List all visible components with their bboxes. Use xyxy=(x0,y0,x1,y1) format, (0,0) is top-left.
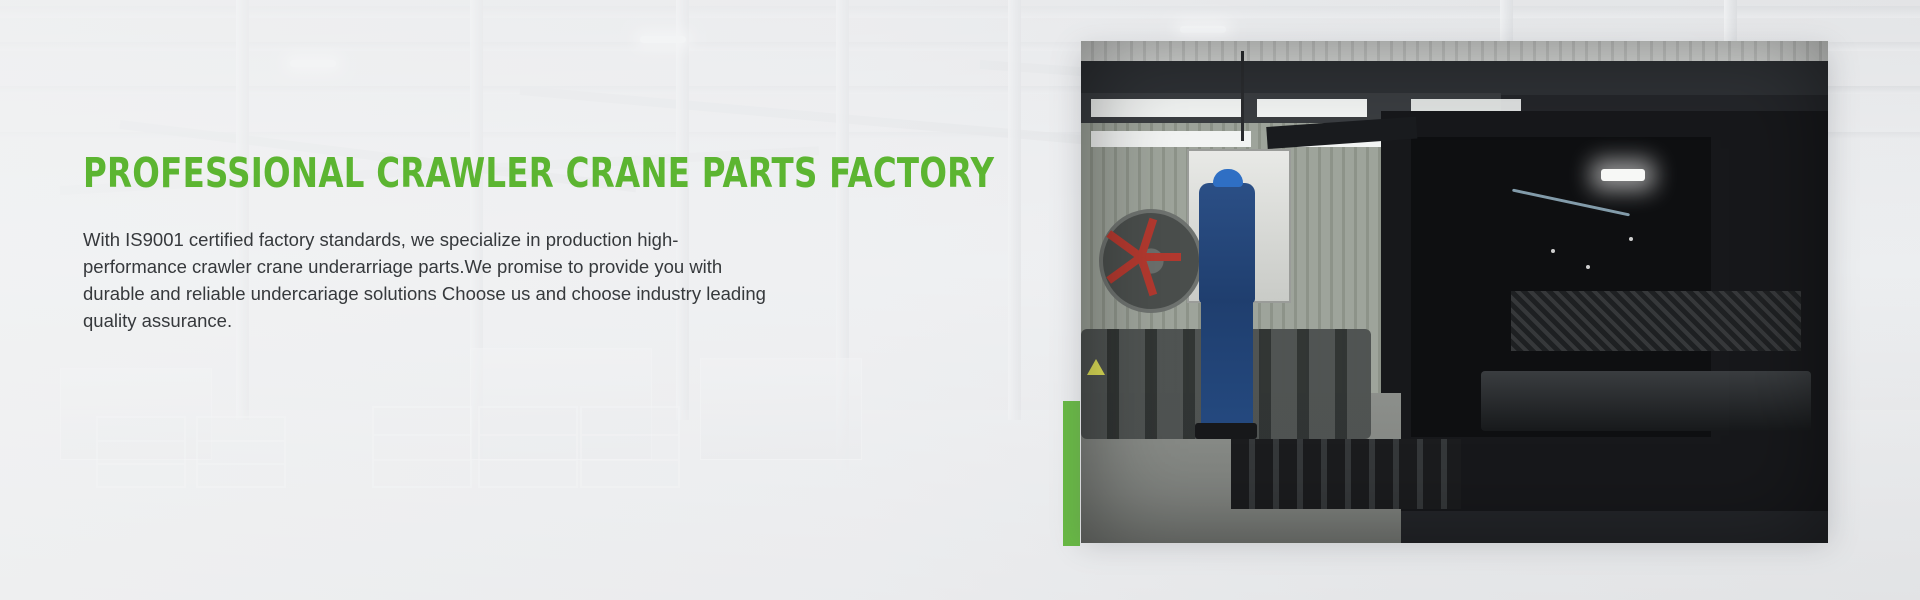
photo-vignette xyxy=(1081,41,1828,543)
factory-machining-photo xyxy=(1081,41,1828,543)
hero-photo-block xyxy=(1063,33,1828,545)
hero-description: With IS9001 certified factory standards,… xyxy=(83,196,773,334)
accent-bar-left xyxy=(1063,401,1080,546)
hero-banner: PROFESSIONAL CRAWLER CRANE PARTS FACTORY… xyxy=(0,0,1920,600)
page-title: PROFESSIONAL CRAWLER CRANE PARTS FACTORY xyxy=(83,150,752,196)
hero-copy: PROFESSIONAL CRAWLER CRANE PARTS FACTORY… xyxy=(83,150,843,334)
